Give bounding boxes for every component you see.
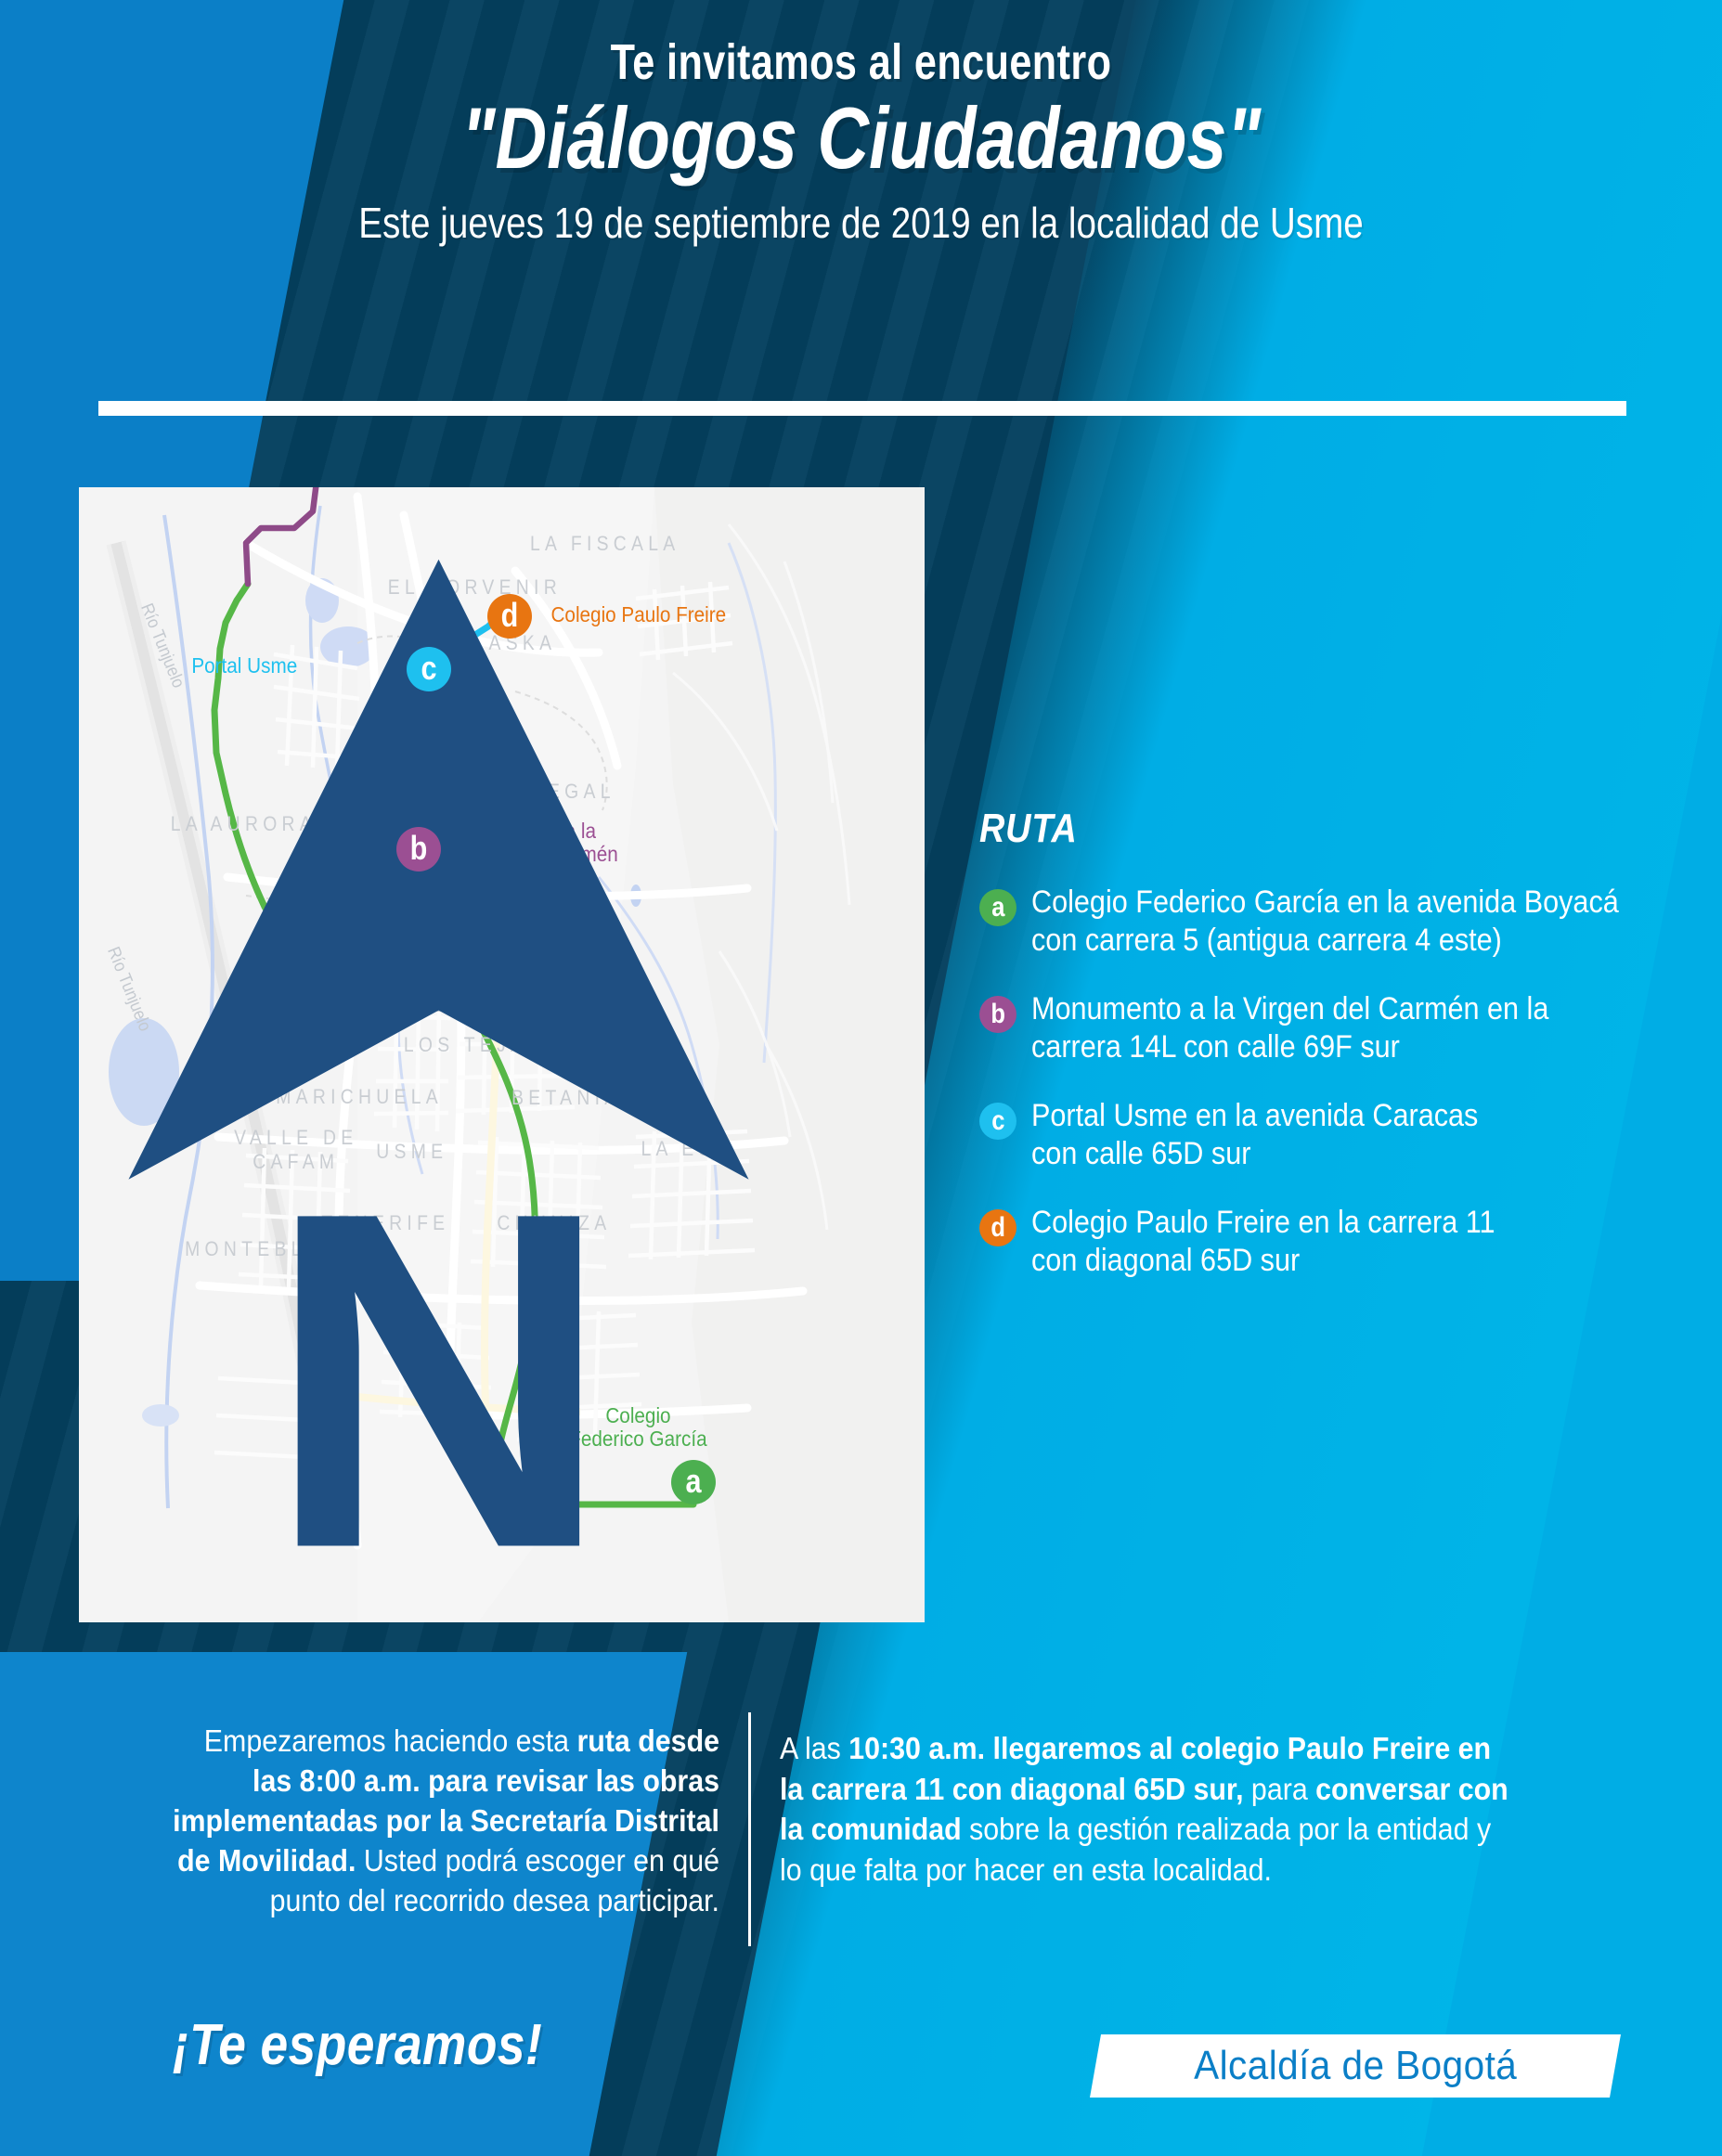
map-pin-a[interactable]: a	[671, 1460, 716, 1504]
map-pin-b-label: b	[410, 832, 428, 865]
ruta-badge-d-letter: d	[990, 1214, 1005, 1242]
ruta-badge-d: d	[979, 1209, 1016, 1246]
ruta-panel: RUTA a Colegio Federico García en la ave…	[979, 806, 1685, 1310]
header-kicker: Te invitamos al encuentro	[173, 37, 1550, 87]
compass-north-icon: N	[79, 513, 861, 1622]
header-subtitle: Este jueves 19 de septiembre de 2019 en …	[137, 200, 1584, 247]
ruta-text-d: Colegio Paulo Freire en la carrera 11 co…	[1031, 1204, 1495, 1281]
map-pin-c[interactable]: c	[407, 647, 451, 691]
paragraph-divider	[748, 1712, 751, 1946]
map-pin-d-label: d	[501, 599, 519, 632]
ruta-badge-b: b	[979, 996, 1016, 1033]
ruta-text-b: Monumento a la Virgen del Carmén en la c…	[1031, 990, 1548, 1067]
ruta-item-d[interactable]: d Colegio Paulo Freire en la carrera 11 …	[979, 1204, 1685, 1281]
map-pin-b[interactable]: b	[396, 827, 441, 871]
ruta-item-a[interactable]: a Colegio Federico García en la avenida …	[979, 884, 1685, 961]
ruta-badge-a: a	[979, 889, 1016, 926]
para-left-plain-1: Empezaremos haciendo esta	[204, 1724, 577, 1758]
alcaldia-logo[interactable]: Alcaldía de Bogotá	[1090, 2034, 1621, 2098]
alcaldia-logo-text: Alcaldía de Bogotá	[1194, 2043, 1517, 2089]
paragraph-schedule-arrival: A las 10:30 a.m. llegaremos al colegio P…	[780, 1728, 1514, 1890]
poster-root: Te invitamos al encuentro "Diálogos Ciud…	[0, 0, 1722, 2156]
ruta-item-b[interactable]: b Monumento a la Virgen del Carmén en la…	[979, 990, 1685, 1067]
ruta-badge-b-letter: b	[990, 1001, 1005, 1028]
ruta-heading: RUTA	[979, 806, 1586, 852]
poster-header: Te invitamos al encuentro "Diálogos Ciud…	[0, 37, 1722, 246]
ruta-item-c[interactable]: c Portal Usme en la avenida Caracas con …	[979, 1097, 1685, 1174]
ruta-text-a: Colegio Federico García en la avenida Bo…	[1031, 884, 1619, 961]
ruta-text-c: Portal Usme en la avenida Caracas con ca…	[1031, 1097, 1478, 1174]
para-right-plain-2: para	[1244, 1772, 1316, 1806]
ruta-badge-a-letter: a	[991, 894, 1004, 922]
map-pin-a-label: a	[685, 1465, 701, 1498]
map-pin-d[interactable]: d	[487, 594, 532, 639]
page-title: "Diálogos Ciudadanos"	[155, 93, 1567, 185]
paragraph-schedule-start: Empezaremos haciendo esta ruta desde las…	[169, 1722, 719, 1920]
map-pin-c-label: c	[421, 652, 436, 685]
ruta-badge-c-letter: c	[991, 1107, 1004, 1135]
footer-cta: ¡Te esperamos!	[173, 2012, 542, 2078]
svg-text:N: N	[265, 1114, 612, 1622]
para-right-plain-1: A las	[780, 1731, 848, 1765]
header-divider-rule	[98, 401, 1626, 416]
ruta-badge-c: c	[979, 1103, 1016, 1140]
route-map[interactable]: N d c b a Colegio Paulo Freire Portal Us…	[79, 487, 925, 1622]
